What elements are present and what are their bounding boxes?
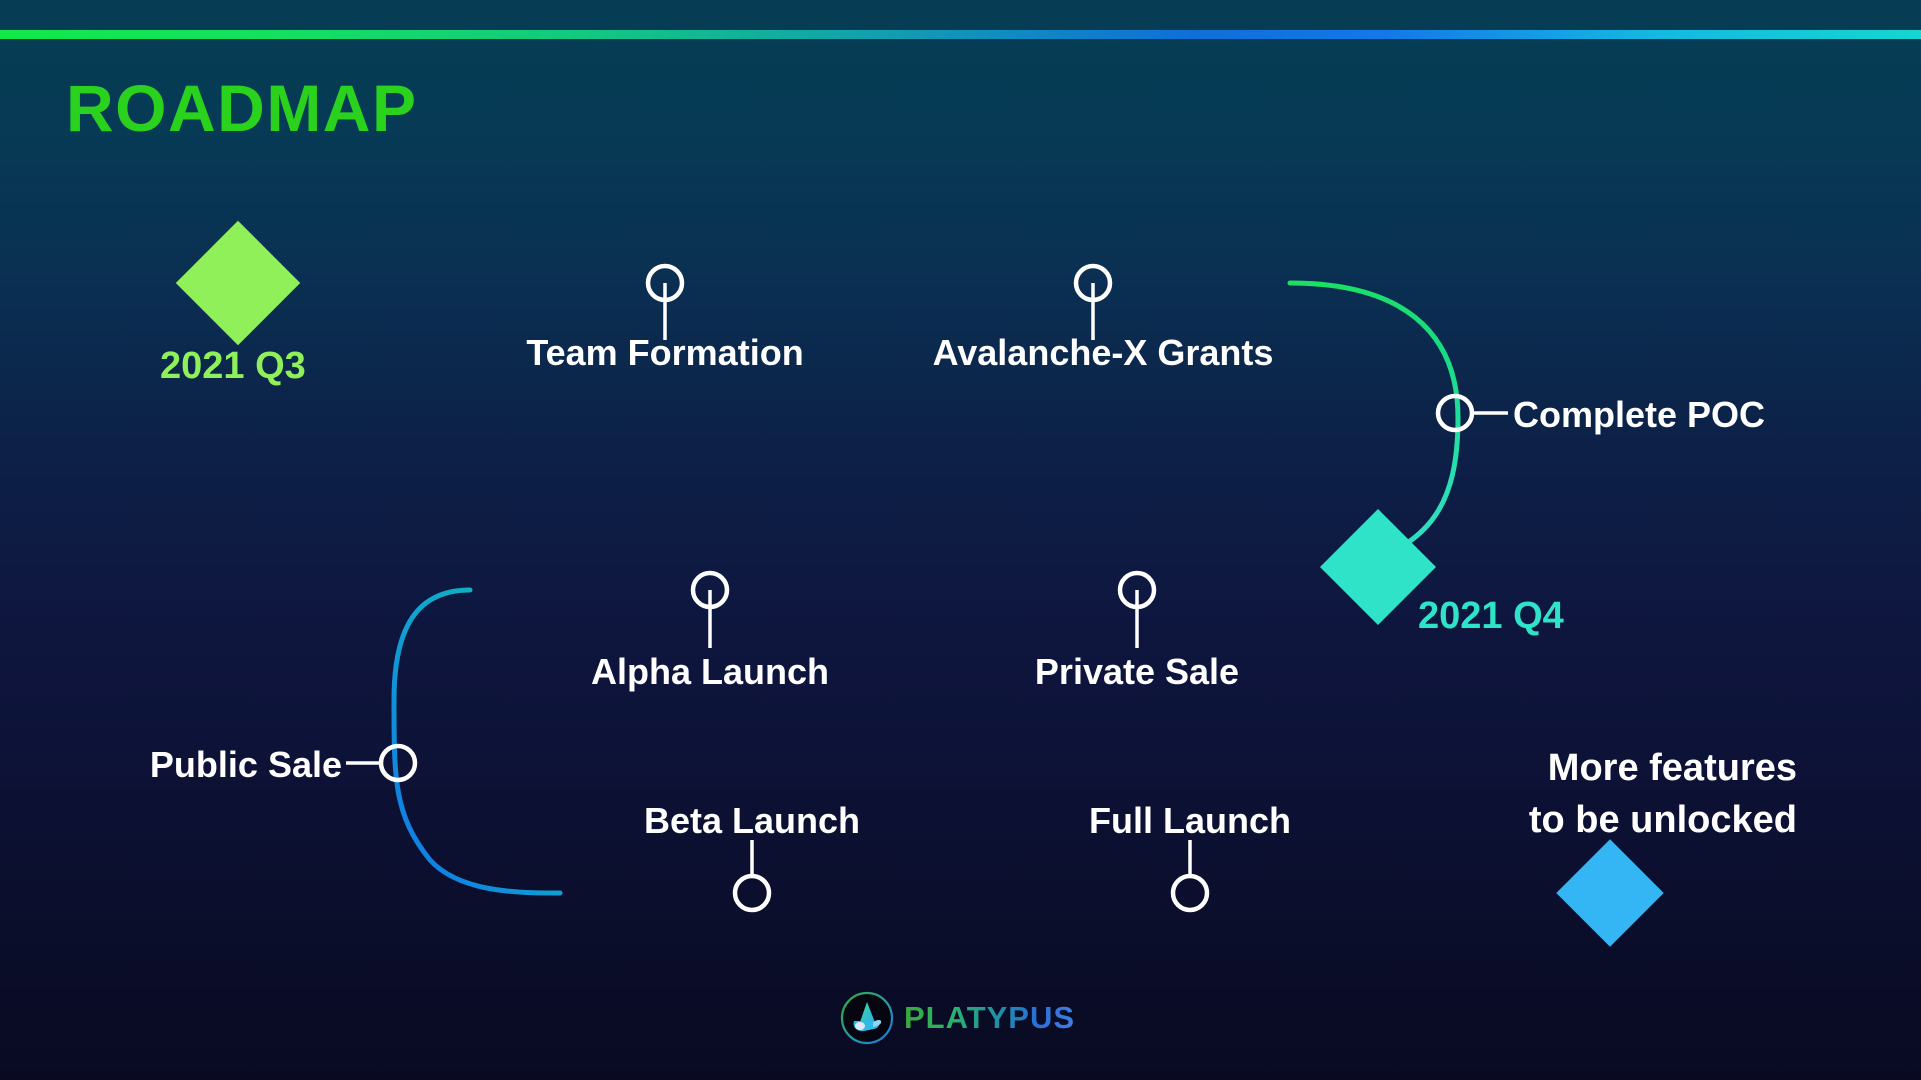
milestone-diamond-q3[interactable] (176, 221, 300, 345)
milestone-label-q4: 2021 Q4 (1418, 595, 1564, 637)
node-beta-launch[interactable] (735, 840, 769, 910)
node-team-formation[interactable] (648, 266, 682, 340)
roadmap-timeline: Team Formation Avalanche-X Grants Comple… (0, 0, 1921, 1080)
node-avalanche-x-grants[interactable] (1076, 266, 1110, 340)
node-label-complete-poc: Complete POC (1513, 394, 1765, 435)
milestone-diamond-future[interactable] (1556, 839, 1663, 946)
node-full-launch[interactable] (1173, 840, 1207, 910)
node-label-full-launch: Full Launch (1089, 800, 1291, 841)
node-alpha-launch[interactable] (693, 573, 727, 648)
node-public-sale[interactable] (346, 746, 415, 780)
node-label-beta-launch: Beta Launch (644, 800, 860, 841)
node-label-team-formation: Team Formation (526, 332, 803, 373)
platypus-logo-badge (840, 991, 894, 1045)
platypus-logo: PLATYPUS (840, 990, 1090, 1046)
node-label-public-sale: Public Sale (150, 744, 342, 785)
roadmap-slide: ROADMAP (0, 0, 1921, 1080)
timeline-path-row1 (262, 283, 1458, 567)
node-label-avalanche-x-grants: Avalanche-X Grants (933, 332, 1274, 373)
node-label-alpha-launch: Alpha Launch (591, 651, 829, 692)
milestone-label-future-line2: to be unlocked (1529, 799, 1797, 841)
timeline-path-row2 (394, 590, 1352, 893)
milestone-label-future-line1: More features (1548, 747, 1797, 789)
node-complete-poc[interactable] (1438, 396, 1508, 430)
curve-row2-to-row3 (394, 590, 560, 893)
node-private-sale[interactable] (1120, 573, 1154, 648)
platypus-wordmark: PLATYPUS (904, 1000, 1075, 1036)
milestone-label-q3: 2021 Q3 (160, 345, 306, 387)
node-label-private-sale: Private Sale (1035, 651, 1239, 692)
